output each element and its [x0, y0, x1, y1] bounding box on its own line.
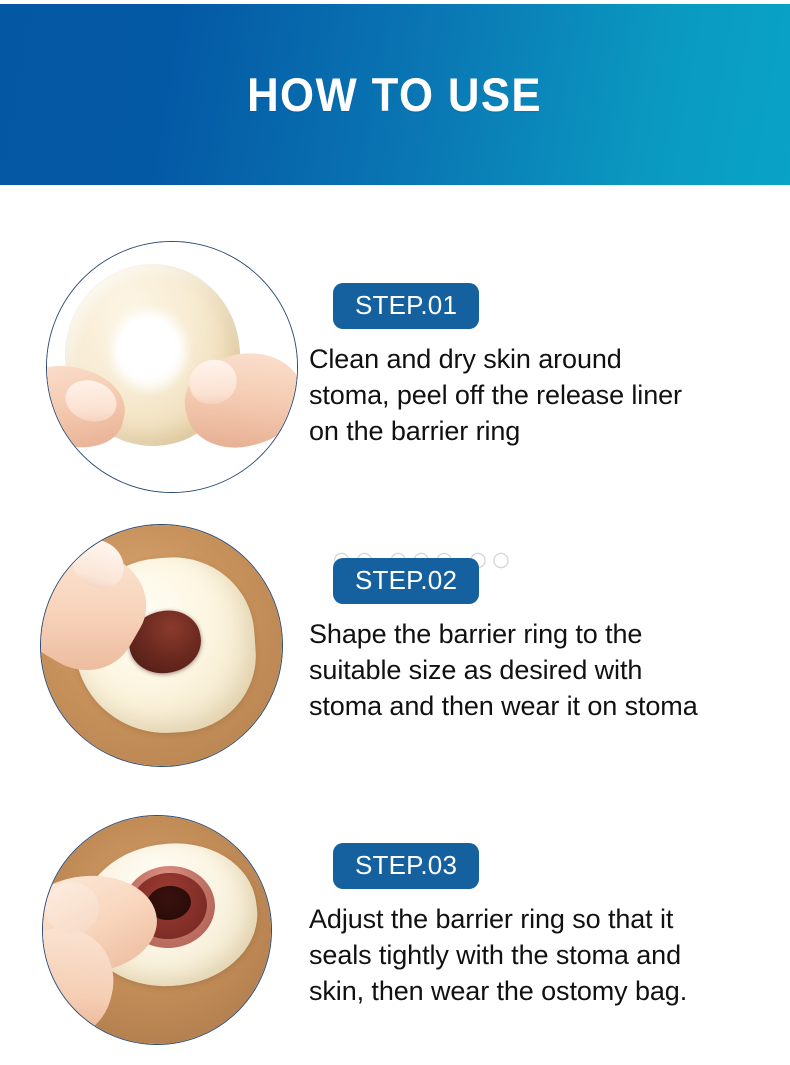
step-3-line-2: seals tightly with the stoma and	[309, 938, 779, 974]
step-2-text-block: 〇〇 〇〇〇 〇〇 STEP.02 Shape the barrier ring…	[309, 558, 779, 725]
step-1-line-2: stoma, peel off the release liner	[309, 378, 779, 414]
page-title: HOW TO USE	[248, 71, 543, 118]
page-header-banner: HOW TO USE	[0, 4, 790, 185]
step-2-badge: STEP.02	[333, 558, 479, 604]
knuckle-highlight-shape	[45, 882, 99, 934]
step-3-line-3: skin, then wear the ostomy bag.	[309, 974, 779, 1010]
step-item: STEP.03 Adjust the barrier ring so that …	[0, 803, 790, 1063]
step-2-line-3: stoma and then wear it on stoma	[309, 689, 779, 725]
step-1-photo	[46, 241, 298, 493]
step-3-badge: STEP.03	[333, 843, 479, 889]
step-2-photo	[40, 524, 283, 767]
step-3-text-block: STEP.03 Adjust the barrier ring so that …	[309, 843, 779, 1010]
step-1-text-block: STEP.01 Clean and dry skin around stoma,…	[309, 283, 779, 450]
shaping-ring-illustration	[41, 525, 282, 766]
step-3-line-1: Adjust the barrier ring so that it	[309, 902, 779, 938]
step-1-description: Clean and dry skin around stoma, peel of…	[309, 342, 779, 450]
barrier-ring-hole	[117, 316, 181, 384]
step-3-badge-wrap: STEP.03	[309, 843, 779, 889]
step-item: 〇〇 〇〇〇 〇〇 STEP.02 Shape the barrier ring…	[0, 510, 790, 802]
step-2-line-2: suitable size as desired with	[309, 653, 779, 689]
step-1-badge-wrap: STEP.01	[309, 283, 779, 329]
step-3-description: Adjust the barrier ring so that it seals…	[309, 902, 779, 1010]
step-2-line-1: Shape the barrier ring to the	[309, 617, 779, 653]
step-1-line-1: Clean and dry skin around	[309, 342, 779, 378]
step-1-badge: STEP.01	[333, 283, 479, 329]
steps-container: STEP.01 Clean and dry skin around stoma,…	[0, 185, 790, 1065]
step-2-badge-wrap: 〇〇 〇〇〇 〇〇 STEP.02	[309, 558, 779, 604]
barrier-ring-illustration	[47, 242, 297, 492]
how-to-use-page: HOW TO USE STEP.01	[0, 0, 790, 1065]
step-1-line-3: on the barrier ring	[309, 414, 779, 450]
step-item: STEP.01 Clean and dry skin around stoma,…	[0, 228, 790, 520]
step-2-description: Shape the barrier ring to the suitable s…	[309, 617, 779, 725]
step-3-photo	[42, 815, 272, 1045]
sealing-ring-illustration	[43, 816, 271, 1044]
